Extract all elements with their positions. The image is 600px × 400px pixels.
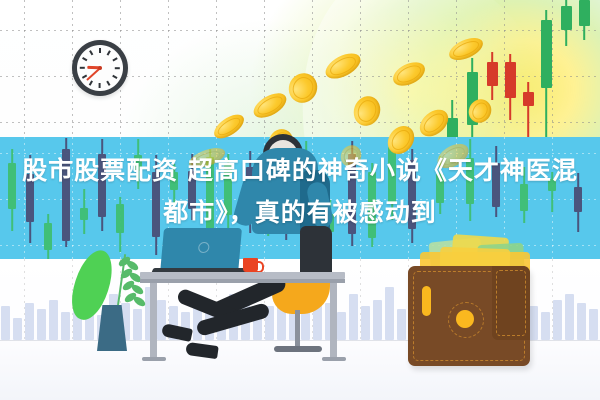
candle-body [487,62,498,86]
bar [49,300,58,340]
wallet-flap [492,266,530,340]
bar [25,303,34,340]
clock-tick [116,67,121,69]
clock-tick [89,81,93,86]
bar [565,294,574,341]
chair-stem [295,310,300,348]
bar [397,309,406,340]
banner-image: 股市股票配资 超高口碑的神奇小说《天才神医混 都市》，真的有被感动到 [0,0,600,400]
bar [133,309,142,340]
candlestick [579,0,590,40]
candlestick [487,52,498,100]
bar [37,309,46,340]
clock-center-pin [98,66,102,70]
candlestick [541,10,552,150]
candle-wick [527,82,529,140]
clock-face [77,45,123,91]
bar [61,312,70,340]
bar [1,306,10,340]
chair-base [274,346,322,352]
bar [529,306,538,340]
desk-top [140,272,345,279]
desk-leg-right [330,283,337,359]
laptop-logo-icon [198,242,210,253]
bar [337,312,346,340]
wall-clock [72,40,128,96]
bar [349,294,358,341]
wallet-snap-button [456,310,474,328]
bar [361,306,370,340]
clock-tick [99,84,101,89]
candle-body [579,0,590,26]
wallet-flap-stitching [496,270,526,336]
desk-leg-left [150,283,157,359]
grid-line-v-low [360,259,361,341]
clock-tick [99,48,101,53]
desk-foot-left [142,357,166,361]
candle-body [505,62,516,98]
bar [553,300,562,340]
candle-body [541,20,552,88]
bar [373,300,382,340]
candlestick [467,58,478,138]
coin-inner-ring [289,73,317,102]
bar [577,303,586,340]
bar [541,312,550,340]
coffee-mug [243,258,258,272]
candlestick [523,82,534,140]
brown-leather-wallet [408,266,530,366]
candlestick [505,54,516,120]
clock-tick [107,81,111,86]
candle-body [561,6,572,30]
clock-tick [82,57,87,61]
bar [589,309,598,340]
clock-tick [107,50,111,55]
desk-foot-right [322,357,346,361]
coin-inner-ring [355,97,379,124]
bar [13,318,22,340]
bar [385,287,394,340]
headline-line-1: 股市股票配资 超高口碑的神奇小说《天才神医混 [0,150,600,192]
clock-tick [113,57,118,61]
candle-body [523,92,534,106]
grid-line-h [0,30,600,31]
desk-top-edge [140,279,345,283]
headline: 股市股票配资 超高口碑的神奇小说《天才神医混 都市》，真的有被感动到 [0,150,600,234]
grid-line-v-low [24,259,25,341]
clock-tick [113,75,118,79]
grid-line-v-low [552,259,553,341]
clock-tick [80,67,85,69]
candlestick [561,0,572,46]
headline-line-2: 都市》，真的有被感动到 [0,192,600,234]
clock-tick [89,50,93,55]
wallet-card-tab [422,286,431,316]
grid-line-h [0,122,600,123]
